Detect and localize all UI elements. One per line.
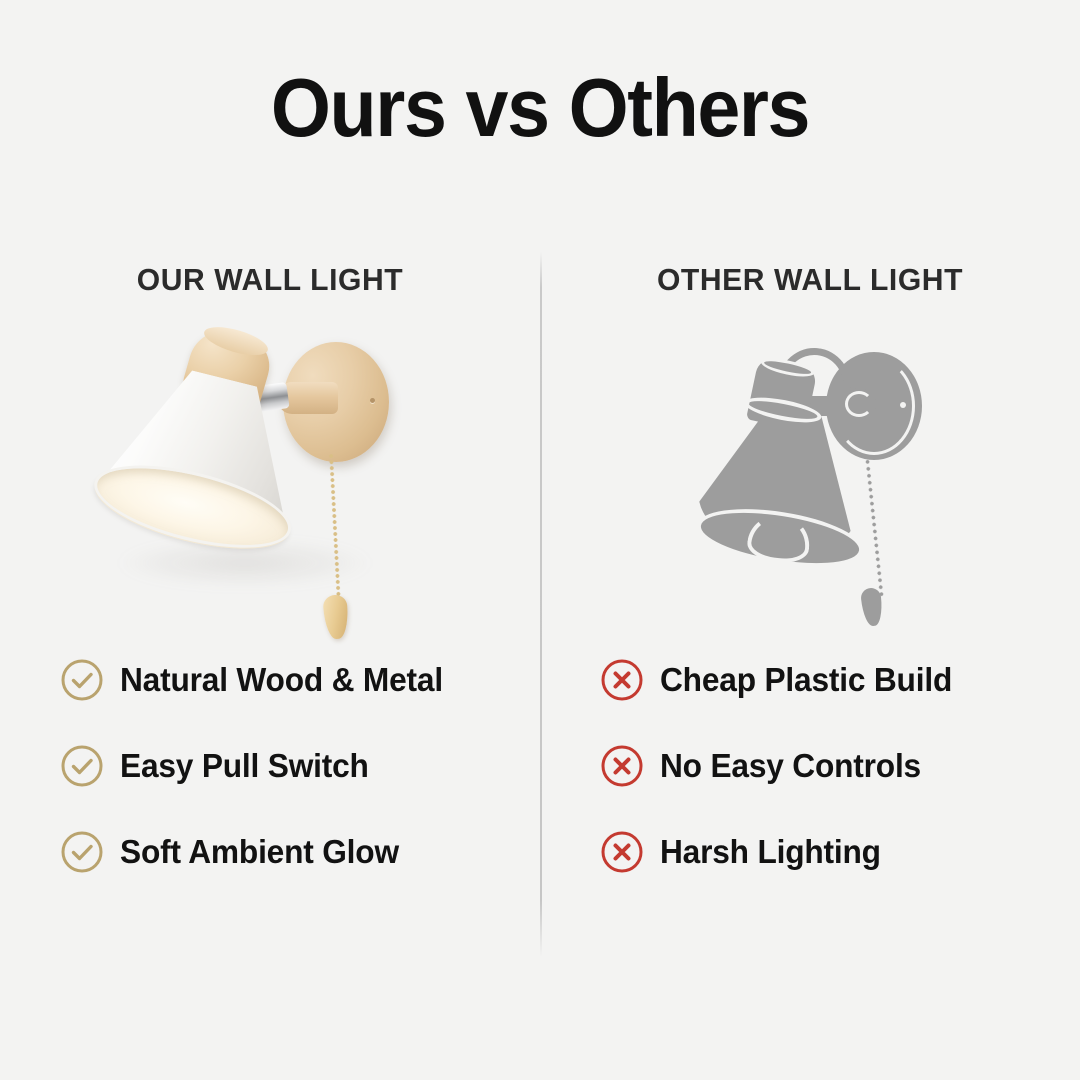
check-circle-icon (60, 658, 104, 702)
others-feature-list: Cheap Plastic Build No Easy Controls Har… (600, 654, 1060, 878)
list-item: Harsh Lighting (600, 826, 1060, 878)
drawback-label: Harsh Lighting (660, 833, 881, 871)
silhouette-screw (900, 402, 906, 408)
list-item: Soft Ambient Glow (60, 826, 530, 878)
ours-feature-list: Natural Wood & Metal Easy Pull Switch So… (60, 654, 530, 878)
page-title: Ours vs Others (38, 66, 1042, 149)
check-circle-icon (60, 744, 104, 788)
vertical-divider (540, 252, 542, 957)
column-heading-ours: OUR WALL LIGHT (8, 262, 532, 298)
x-circle-icon (600, 658, 644, 702)
feature-label: Natural Wood & Metal (120, 661, 443, 699)
x-circle-icon (600, 830, 644, 874)
list-item: Cheap Plastic Build (600, 654, 1060, 706)
comparison-infographic: Ours vs Others OUR WALL LIGHT OTHER WALL… (0, 0, 1080, 1080)
pull-chain-knob (322, 594, 349, 640)
list-item: Easy Pull Switch (60, 740, 530, 792)
check-circle-icon (60, 830, 104, 874)
our-wall-light-photo (100, 325, 430, 625)
column-heading-others: OTHER WALL LIGHT (548, 262, 1072, 298)
x-circle-icon (600, 744, 644, 788)
list-item: Natural Wood & Metal (60, 654, 530, 706)
silhouette-ball-joint (842, 388, 876, 420)
other-wall-light-silhouette (700, 330, 960, 620)
silhouette-pull-chain (865, 458, 885, 598)
drawback-label: Cheap Plastic Build (660, 661, 952, 699)
feature-label: Easy Pull Switch (120, 747, 369, 785)
feature-label: Soft Ambient Glow (120, 833, 399, 871)
drawback-label: No Easy Controls (660, 747, 921, 785)
list-item: No Easy Controls (600, 740, 1060, 792)
